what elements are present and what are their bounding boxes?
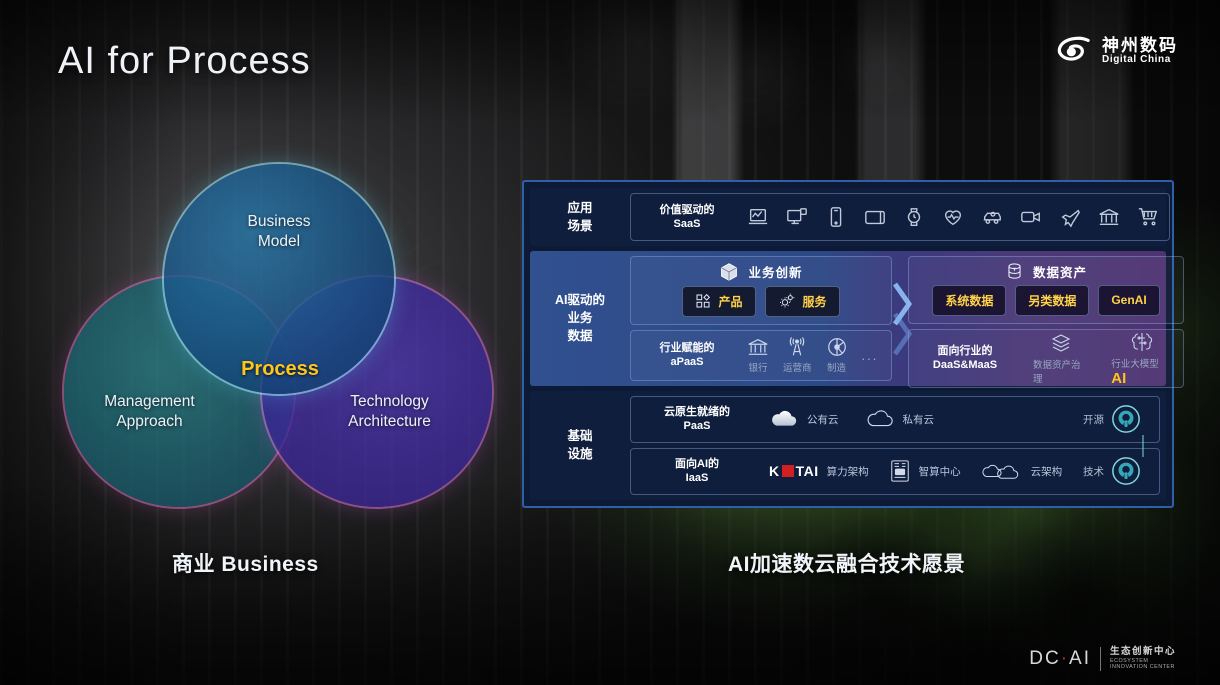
laptop-chart-icon [747, 206, 769, 228]
brand-name-en: Digital China [1102, 55, 1178, 66]
multi-cloud-icon [981, 461, 1023, 481]
saas-row: 价值驱动的 SaaS [630, 193, 1170, 241]
chip-system-data[interactable]: 系统数据 [932, 285, 1006, 316]
paas-row: 云原生就绪的 PaaS 公有云 私有云 [630, 396, 1160, 443]
footer-text: 生态创新中心 ECOSYSTEM INNOVATION CENTER [1110, 647, 1176, 670]
cloud-outline-icon [865, 409, 895, 429]
item-private-cloud-label: 私有云 [903, 412, 935, 427]
cloud-filled-icon [769, 409, 799, 429]
band-label-infrastructure: 基础 设施 [530, 391, 630, 500]
daas-maas-card: 面向行业的 DaaS&MaaS 数据资产治理 行业大模型AI [908, 329, 1184, 388]
item-computing-architecture: KTAI 算力架构 [769, 463, 869, 479]
band-label-ai-driven: AI驱动的 业务 数据 [530, 251, 630, 386]
airplane-icon [1059, 206, 1081, 228]
mini-carrier-label: 运营商 [783, 360, 812, 374]
footer-cn: 生态创新中心 [1110, 647, 1176, 658]
gears-icon [778, 293, 796, 309]
chip-genai[interactable]: GenAI [1098, 285, 1159, 316]
swirl-logo-icon [1056, 36, 1092, 66]
chip-alternative-data[interactable]: 另类数据 [1015, 285, 1089, 316]
tag-industry-apaas: 行业赋能的 aPaaS [641, 341, 733, 370]
tail-opensource-label: 开源 [1083, 412, 1104, 427]
apaas-ellipsis: ... [862, 348, 879, 363]
tag-ai-oriented-iaas: 面向AI的 IaaS [651, 457, 743, 486]
data-assets-column: 数据资产 系统数据 另类数据 GenAI 面向行业的 [908, 256, 1184, 381]
cell-tower-icon [786, 336, 808, 358]
bank-icon [1098, 206, 1120, 228]
heartbeat-icon [942, 206, 964, 228]
mini-bank: 银行 [747, 336, 769, 374]
item-ai-datacenter: AI 智算中心 [889, 459, 961, 483]
mini-manufacturing: 制造 [826, 336, 848, 374]
tag-value-driven-saas: 价值驱动的 SaaS [641, 203, 733, 232]
tag-cloud-native-paas: 云原生就绪的 PaaS [651, 405, 743, 434]
brand-name-cn: 神州数码 [1102, 37, 1178, 55]
database-icon [1005, 262, 1024, 281]
tail-technology: 技术 [1083, 456, 1141, 486]
chip-service[interactable]: 服务 [765, 286, 840, 317]
item-public-cloud: 公有云 [769, 409, 839, 429]
brand-logo: 神州数码 Digital China [1056, 36, 1178, 66]
item-computing-architecture-label: 算力架构 [827, 464, 869, 479]
tail-technology-label: 技术 [1083, 464, 1104, 479]
slide-canvas: AI for Process 神州数码 Digital China Busine… [0, 0, 1220, 685]
svg-text:AI: AI [897, 470, 902, 475]
business-innovation-column: 业务创新 产品 服务 [630, 256, 892, 381]
item-cloud-architecture: 云架构 [981, 461, 1063, 481]
mini-data-governance-label: 数据资产治理 [1033, 357, 1089, 385]
band-label-application: 应用 场景 [530, 188, 630, 246]
mini-manufacturing-label: 制造 [827, 360, 846, 374]
kuntai-logo-icon: KTAI [769, 463, 819, 479]
iaas-row: 面向AI的 IaaS KTAI 算力架构 AI 智算中心 [630, 448, 1160, 495]
venn-label-process: Process [210, 358, 350, 381]
opensource-circle-icon [1111, 404, 1141, 434]
architecture-panel: 应用 场景 价值驱动的 SaaS [522, 180, 1174, 508]
item-cloud-architecture-label: 云架构 [1031, 464, 1063, 479]
opensource-connector-line [1142, 435, 1144, 457]
footer-dc: DC·AI [1029, 648, 1091, 670]
business-innovation-title: 业务创新 [748, 262, 802, 281]
chip-product-label: 产品 [718, 293, 742, 310]
tag-industry-daas-maas: 面向行业的 DaaS&MaaS [919, 344, 1011, 373]
venn-label-business-model: BusinessModel [214, 212, 344, 252]
brain-network-icon [1130, 330, 1154, 354]
chip-product[interactable]: 产品 [682, 286, 755, 317]
desktop-monitor-icon [786, 206, 808, 228]
venn-diagram: BusinessModel ManagementApproach Technol… [62, 162, 462, 522]
mini-industry-llm: 行业大模型AI [1111, 330, 1173, 387]
apaas-card: 行业赋能的 aPaaS 银行 运营商 [630, 330, 892, 381]
blocks-icon [695, 293, 711, 309]
shopping-cart-icon [1137, 206, 1159, 228]
smartwatch-icon [903, 206, 925, 228]
cube-mesh-icon [719, 262, 739, 282]
item-ai-datacenter-label: 智算中心 [919, 464, 961, 479]
chip-service-label: 服务 [803, 293, 827, 310]
business-innovation-header: 业务创新 [631, 262, 891, 282]
caption-business: 商业 Business [172, 548, 319, 578]
data-governance-icon [1049, 331, 1073, 355]
band-infrastructure: 基础 设施 云原生就绪的 PaaS 公有云 [530, 391, 1166, 500]
scenario-icon-row [747, 206, 1159, 228]
business-innovation-chips: 产品 服务 [631, 286, 891, 324]
business-innovation-card: 业务创新 产品 服务 [630, 256, 892, 325]
manufacturing-gear-icon [826, 336, 848, 358]
car-icon [981, 206, 1003, 228]
data-assets-card: 数据资产 系统数据 另类数据 GenAI [908, 256, 1184, 324]
mini-carrier: 运营商 [783, 336, 812, 374]
bank-icon [747, 336, 769, 358]
band-application-scenarios: 应用 场景 价值驱动的 SaaS [530, 188, 1166, 246]
venn-label-technology-architecture: TechnologyArchitecture [312, 392, 467, 432]
footer-en-2: INNOVATION CENTER [1110, 664, 1176, 670]
ai-datacenter-icon: AI [889, 459, 911, 483]
smartphone-icon [825, 206, 847, 228]
band-ai-driven-business-data: AI驱动的 业务 数据 [530, 251, 1166, 386]
caption-tech-vision: AI加速数云融合技术愿景 [728, 548, 965, 578]
opensource-circle-icon [1111, 456, 1141, 486]
chevron-right-icon [893, 270, 913, 370]
video-camera-icon [1020, 206, 1042, 228]
data-assets-title: 数据资产 [1033, 262, 1087, 281]
item-public-cloud-label: 公有云 [807, 412, 839, 427]
footer-logo: DC·AI 生态创新中心 ECOSYSTEM INNOVATION CENTER [1029, 647, 1176, 671]
red-block-icon [782, 465, 794, 477]
footer-divider [1100, 647, 1101, 671]
page-title: AI for Process [58, 40, 311, 83]
item-private-cloud: 私有云 [865, 409, 935, 429]
data-assets-chips: 系统数据 另类数据 GenAI [909, 285, 1183, 323]
tail-opensource: 开源 [1083, 404, 1141, 434]
mini-data-governance: 数据资产治理 [1033, 331, 1089, 385]
venn-label-management-approach: ManagementApproach [72, 392, 227, 432]
mini-industry-llm-label: 行业大模型AI [1111, 356, 1173, 387]
mini-bank-label: 银行 [748, 360, 767, 374]
data-assets-header: 数据资产 [909, 262, 1183, 281]
tablet-icon [864, 206, 886, 228]
